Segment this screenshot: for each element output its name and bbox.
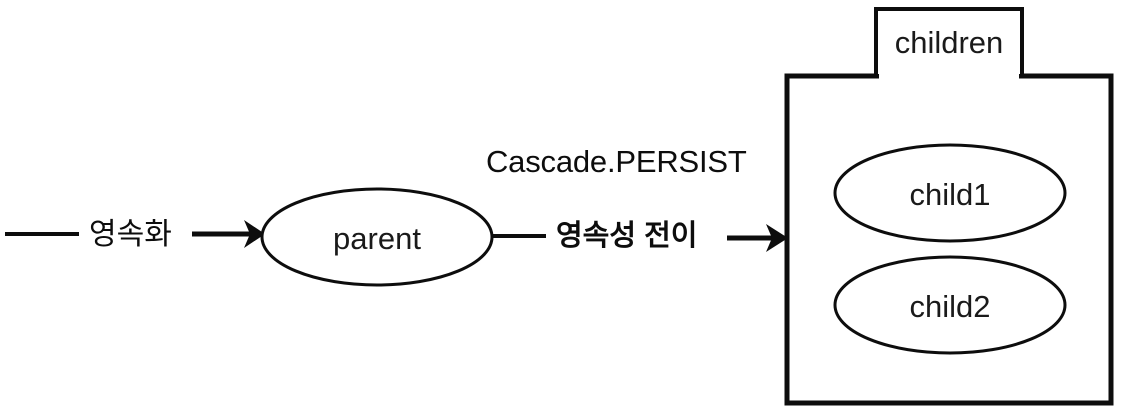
persistence-label: 영속화: [89, 220, 172, 250]
diagram-canvas: 영속화 parent Cascade.PERSIST 영속성 전이 childr…: [0, 0, 1126, 416]
child2-node-label: child2: [835, 291, 1065, 322]
arrow-to-parent-icon: [192, 220, 265, 248]
parent-node-label: parent: [262, 223, 492, 254]
cascade-persist-label: Cascade.PERSIST: [486, 146, 747, 177]
arrow-to-children-icon: [727, 224, 788, 252]
children-tab-label: children: [876, 27, 1022, 58]
cascade-korean-label: 영속성 전이: [556, 222, 697, 251]
child1-node-label: child1: [835, 179, 1065, 210]
